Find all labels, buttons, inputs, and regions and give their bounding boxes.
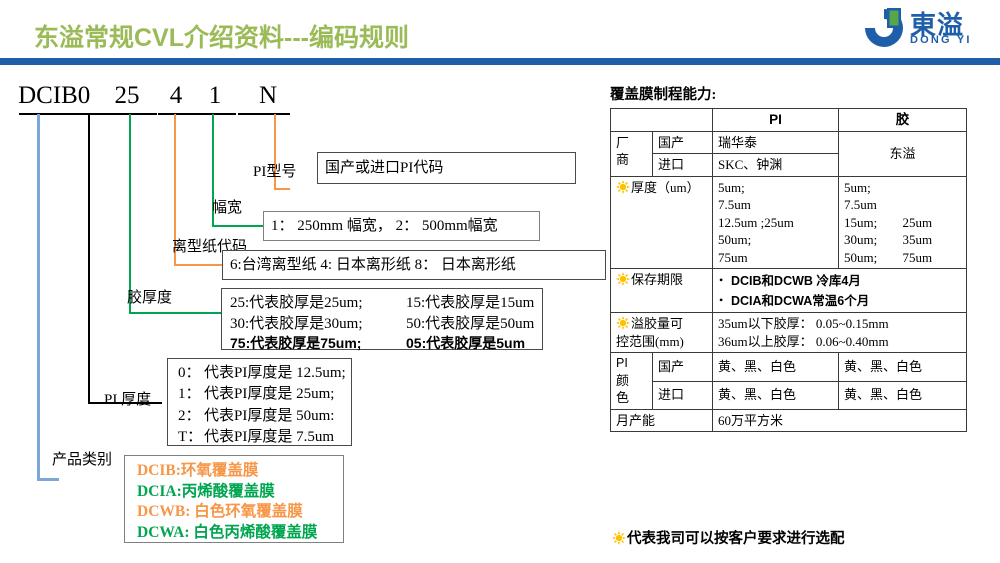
glue-row-3-left: 75:代表胶厚是75um; [230,334,406,353]
callout-box-release-paper: 6:台湾离型纸 4: 日本离形纸 8： 日本离形纸 [222,250,606,280]
cell-header-pi: PI [713,109,839,132]
list-item: DCIA和DCWA常温6个月 [731,291,961,311]
table-row-header: PI 胶 [611,109,967,132]
cell-thickness-glue: 5um; 7.5um 15um;25um 30um;35um 50um;75um [839,176,967,268]
code-char-release-paper: 4 [158,82,194,110]
thickness-glue-4-l: 30um; [844,231,903,248]
cell-pi-color-pi-import: 黄、黑、白色 [713,381,839,409]
code-char-pi-model: N [249,82,287,110]
logo: 東溢 DONG YI [861,4,993,54]
thickness-pi-2: 7.5um [718,196,833,213]
thickness-glue-3-l: 15um; [844,214,903,231]
category-item-dcwa: DCWA: 白色丙烯酸覆盖膜 [137,523,333,544]
capability-title: 覆盖膜制程能力: [610,83,716,104]
sun-icon [612,531,626,545]
glue-row-1-right: 15:代表胶厚是15um [406,293,534,314]
vendor-label-line-2: 商 [616,151,647,168]
connector-product-category-horizontal [37,478,59,481]
connector-pi-model-horizontal [274,188,290,190]
callout-box-pi-thickness: 0： 代表PI厚度是 12.5um; 1： 代表PI厚度是 25um; 2： 代… [167,358,352,446]
code-char-glue-thickness: 25 [103,82,151,110]
thickness-glue-1-l: 5um; [844,179,903,196]
pi-row-2-text: 代表PI厚度是 25um; [204,384,346,404]
cell-vendor-domestic-key: 国产 [653,132,713,154]
cell-vendor-pi-import: SKC、钟渊 [713,154,839,176]
connector-product-category-vertical [37,114,40,480]
overflow-item-1: 35um以下胶厚： 0.05~0.15mm [718,315,961,332]
cell-label-thickness: 厚度（um） [611,176,713,268]
sun-icon [616,272,630,286]
thickness-glue-3-r: 25um [903,214,962,231]
pi-row-4-text: 代表PI厚度是 7.5um [204,427,346,447]
shelf-life-label-text: 保存期限 [631,272,683,287]
dongyi-logo-icon [861,4,907,52]
code-underbar-pi-thickness [72,113,114,115]
connector-pi-thickness-vertical [88,114,90,404]
cell-vendor-pi-domestic: 瑞华泰 [713,132,839,154]
thickness-pi-3: 12.5um ;25um [718,214,833,231]
category-item-dcwb: DCWB: 白色环氧覆盖膜 [137,502,333,523]
glue-row-3-right: 05:代表胶厚是5um [406,334,534,353]
callout-label-pi-model: PI型号 [253,160,296,181]
thickness-glue-4-r: 35um [903,231,962,248]
cell-thickness-pi: 5um; 7.5um 12.5um ;25um 50um; 75um [713,176,839,268]
callout-box-width: 1： 250mm 幅宽， 2： 500mm幅宽 [263,211,540,241]
callout-label-product-category: 产品类别 [52,448,112,469]
sun-icon [616,316,630,330]
cell-overflow-values: 35um以下胶厚： 0.05~0.15mm 36um以上胶厚： 0.06~0.4… [713,313,967,353]
table-row-pi-color-import: 进口 黄、黑、白色 黄、黑、白色 [611,381,967,409]
sun-icon [616,180,630,194]
pi-color-label-line-1: PI [616,355,647,372]
connector-glue-thickness-horizontal [129,312,221,314]
capability-table: PI 胶 厂 商 国产 瑞华泰 东溢 进口 SKC、钟渊 [610,108,967,432]
footer-note: 代表我司可以按客户要求进行选配 [612,527,845,548]
connector-glue-thickness-vertical [129,114,131,314]
glue-row-2-left: 30:代表胶厚是30um; [230,314,406,335]
code-underbar-glue-thickness [113,113,157,115]
cell-shelf-life-values: DCIB和DCWB 冷库4月 DCIA和DCWA常温6个月 [713,268,967,313]
code-char-pi-thickness: 0 [64,82,104,110]
thickness-glue-1-r [903,179,962,196]
code-char-width: 1 [197,82,233,110]
pi-color-label-line-2: 颜 [616,372,647,389]
overflow-label-line-2: 控范围(mm) [616,333,707,350]
code-underbar-release-paper [158,113,196,115]
table-row-vendor-domestic: 厂 商 国产 瑞华泰 东溢 [611,132,967,154]
footer-note-text: 代表我司可以按客户要求进行选配 [627,531,845,547]
pi-row-3-code: 2： [178,406,204,426]
thickness-pi-4: 50um; [718,231,833,248]
shelf-life-item-1: DCIB和DCWB 冷库4月 [731,274,861,288]
overflow-item-2: 36um以上胶厚： 0.06~0.40mm [718,333,961,350]
cell-label-overflow: 溢胶量可 控范围(mm) [611,313,713,353]
table-row-pi-color-domestic: PI 颜 色 国产 黄、黑、白色 黄、黑、白色 [611,353,967,381]
callout-label-width: 幅宽 [212,196,242,217]
cell-label-pi-color: PI 颜 色 [611,353,653,410]
thickness-glue-2-r [903,196,962,213]
code-underbar-pi-model [238,113,290,115]
cell-pi-color-glue-domestic: 黄、黑、白色 [839,353,967,381]
page-title: 东溢常规CVL介绍资料---编码规则 [34,18,409,54]
cell-label-capacity: 月产能 [611,409,713,431]
glue-row-2-right: 50:代表胶厚是50um [406,314,534,335]
thickness-pi-1: 5um; [718,179,833,196]
pi-color-label-line-3: 色 [616,389,647,406]
table-row-shelf-life: 保存期限 DCIB和DCWB 冷库4月 DCIA和DCWA常温6个月 [611,268,967,313]
list-item: DCIB和DCWB 冷库4月 [731,271,961,291]
cell-capacity-value: 60万平方米 [713,409,967,431]
cell-header-blank [611,109,713,132]
callout-box-pi-model: 国产或进口PI代码 [317,152,576,184]
callout-label-pi-thickness: PI 厚度 [104,388,151,409]
code-underbar-width [196,113,236,115]
cell-vendor-glue: 东溢 [839,132,967,177]
thickness-label-text: 厚度（um） [631,180,700,195]
overflow-label-line-1: 溢胶量可 [631,316,683,331]
table-row-thickness: 厚度（um） 5um; 7.5um 12.5um ;25um 50um; 75u… [611,176,967,268]
glue-row-1-left: 25:代表胶厚是25um; [230,293,406,314]
cell-vendor-import-key: 进口 [653,154,713,176]
shelf-life-item-2: DCIA和DCWA常温6个月 [731,294,869,308]
cell-label-shelf-life: 保存期限 [611,268,713,313]
thickness-glue-2-l: 7.5um [844,196,903,213]
cell-pi-color-pi-domestic: 黄、黑、白色 [713,353,839,381]
thickness-pi-5: 75um [718,249,833,266]
callout-label-glue-thickness: 胶厚度 [127,286,172,307]
callout-box-glue-thickness: 25:代表胶厚是25um; 15:代表胶厚是15um 30:代表胶厚是30um;… [221,288,543,350]
pi-row-4-code: T： [178,427,204,447]
cell-pi-color-import-key: 进口 [653,381,713,409]
callout-box-product-category: DCIB:环氧覆盖膜 DCIA:丙烯酸覆盖膜 DCWB: 白色环氧覆盖膜 DCW… [124,455,344,543]
vendor-label-line-1: 厂 [616,134,647,151]
category-item-dcia: DCIA:丙烯酸覆盖膜 [137,482,333,503]
cell-header-glue: 胶 [839,109,967,132]
pi-row-3-text: 代表PI厚度是 50um: [204,406,346,426]
table-row-overflow: 溢胶量可 控范围(mm) 35um以下胶厚： 0.05~0.15mm 36um以… [611,313,967,353]
pi-row-2-code: 1： [178,384,204,404]
pi-row-1-code: 0： [178,363,204,383]
cell-pi-color-domestic-key: 国产 [653,353,713,381]
cell-label-vendor: 厂 商 [611,132,653,177]
thickness-glue-5-l: 50um; [844,249,903,266]
title-divider [0,58,1000,65]
code-underbar-product [19,113,79,115]
logo-en-text: DONG YI [910,34,972,46]
pi-row-1-text: 代表PI厚度是 12.5um; [204,363,346,383]
connector-width-horizontal [212,225,270,227]
table-row-capacity: 月产能 60万平方米 [611,409,967,431]
thickness-glue-5-r: 75um [903,249,962,266]
cell-pi-color-glue-import: 黄、黑、白色 [839,381,967,409]
category-item-dcib: DCIB:环氧覆盖膜 [137,461,333,482]
